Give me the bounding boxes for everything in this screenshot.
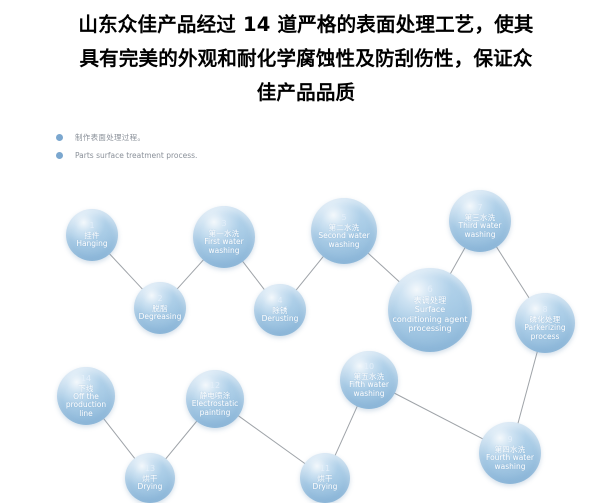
process-link-5-6 [368,253,400,283]
node-number: 3 [221,219,226,228]
node-label-en: Degreasing [135,313,186,322]
page-title: 山东众佳产品经过 14 道严格的表面处理工艺，使其 具有完美的外观和耐化学腐蚀性… [0,0,612,110]
node-label-cn: 表调处理 [414,296,447,305]
node-number: 12 [210,381,220,390]
process-node-9[interactable]: 9第四水洗Fourth water washing [479,422,541,484]
node-label-en: First water washing [193,238,255,255]
node-label-en: Drying [309,483,342,492]
process-link-9-10 [394,393,483,439]
process-link-4-5 [296,256,324,291]
node-label-en: Parkerizing process [515,324,575,341]
process-node-8[interactable]: 8磷化处理Parkerizing process [515,293,575,353]
process-link-2-3 [177,259,204,289]
node-label-en: Drying [134,483,167,492]
process-link-12-13 [165,421,197,460]
page-title-line-1: 山东众佳产品经过 14 道严格的表面处理工艺，使其 [0,8,612,42]
process-node-6[interactable]: 6表调处理Surface conditioning agent processi… [388,268,472,352]
process-link-8-9 [518,351,538,424]
node-number: 13 [145,464,155,473]
process-node-14[interactable]: 14下线Off the production line [57,367,115,425]
process-node-11[interactable]: 11烘干Drying [300,453,350,503]
node-label-en: Hanging [72,240,111,249]
page-title-line-3: 佳产品品质 [0,76,612,110]
page-title-line-2: 具有完美的外观和耐化学腐蚀性及防刮伤性，保证众 [0,42,612,76]
node-number: 8 [542,305,547,314]
node-label-en: Fourth water washing [479,454,541,471]
node-number: 14 [81,374,91,383]
node-number: 6 [427,286,433,295]
node-number: 11 [320,464,330,473]
node-number: 4 [277,296,282,305]
process-link-10-11 [335,406,358,457]
node-label-en: Off the production line [57,393,115,419]
process-link-13-14 [103,418,135,459]
node-label-en: Third water washing [449,222,511,239]
node-label-en: Electrostatic painting [186,400,244,417]
process-diagram: 制作表面处理过程。 Parts surface treatment proces… [0,124,612,500]
process-node-3[interactable]: 3第一水洗First water washing [193,206,255,268]
process-node-7[interactable]: 7第三水洗Third water washing [449,190,511,252]
process-link-7-8 [496,246,529,298]
process-node-13[interactable]: 13烘干Drying [125,453,175,503]
page-root: 山东众佳产品经过 14 道严格的表面处理工艺，使其 具有完美的外观和耐化学腐蚀性… [0,0,612,500]
process-node-1[interactable]: 1挂件Hanging [66,209,118,261]
process-node-12[interactable]: 12静电喷涂Electrostatic painting [186,370,244,428]
node-label-en: Second water washing [311,232,377,249]
process-link-3-4 [242,261,265,290]
node-label-en: Derusting [258,315,303,324]
node-label-en: Fifth water washing [340,381,398,398]
process-node-2[interactable]: 2脱脂Degreasing [134,282,186,334]
node-number: 5 [341,213,346,222]
process-link-11-12 [238,415,306,464]
node-label-en: Surface conditioning agent processing [388,305,472,334]
process-node-4[interactable]: 4除锈Derusting [254,284,306,336]
node-number: 9 [507,435,512,444]
node-number: 2 [157,294,162,303]
process-node-10[interactable]: 10第五水洗Fifth water washing [340,351,398,409]
node-number: 10 [364,362,374,371]
process-link-6-7 [450,247,465,274]
process-node-5[interactable]: 5第二水洗Second water washing [311,198,377,264]
node-number: 1 [89,221,94,230]
process-link-1-2 [109,253,143,289]
node-number: 7 [477,203,482,212]
